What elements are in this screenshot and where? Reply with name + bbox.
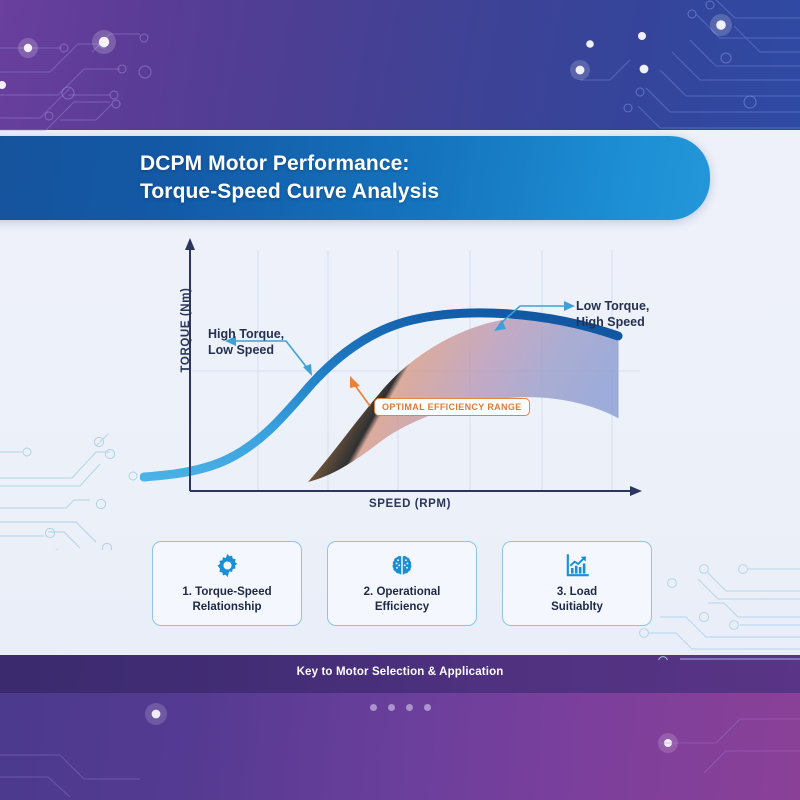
x-axis-label: SPEED (RPM): [290, 498, 530, 510]
annotation-arrow-optimal: [354, 384, 370, 406]
card-label: 3. Load Suitiablty: [551, 585, 603, 615]
page-title-line2: Torque-Speed Curve Analysis: [140, 178, 700, 206]
infographic-canvas: DCPM Motor Performance: Torque-Speed Cur…: [0, 0, 800, 800]
top-purple-background: [0, 0, 800, 136]
x-axis-arrowhead: [630, 486, 642, 496]
card-label: 1. Torque-Speed Relationship: [182, 585, 271, 615]
annotation-low-torque-high-speed: Low Torque, High Speed: [576, 298, 649, 330]
key-factor-cards: 1. Torque-Speed Relationship 2. Operatio…: [152, 541, 652, 626]
footer-tagline: Key to Motor Selection & Application: [0, 666, 800, 678]
brain-icon: [389, 551, 415, 581]
annotation-arrowhead-to-curve-1: [303, 364, 312, 376]
carousel-dots[interactable]: [0, 704, 800, 711]
carousel-dot[interactable]: [424, 704, 431, 711]
y-axis-label: TORQUE (Nm): [180, 270, 192, 390]
gear-icon: [214, 551, 241, 581]
optimal-efficiency-range-badge: OPTIMAL EFFICIENCY RANGE: [374, 398, 530, 416]
card-operational-efficiency[interactable]: 2. Operational Efficiency: [327, 541, 477, 626]
bar-chart-arrow-icon: [564, 551, 591, 581]
y-axis-arrowhead: [185, 238, 195, 250]
carousel-dot[interactable]: [406, 704, 413, 711]
annotation-high-torque-low-speed: High Torque, Low Speed: [208, 326, 284, 358]
torque-speed-chart: TORQUE (Nm) SPEED (RPM) High Torque, Low…: [140, 236, 660, 526]
chart-svg: [140, 236, 660, 526]
card-label: 2. Operational Efficiency: [364, 585, 441, 615]
page-title-line1: DCPM Motor Performance:: [140, 150, 700, 178]
card-load-suitability[interactable]: 3. Load Suitiablty: [502, 541, 652, 626]
annotation-arrowhead-right: [564, 301, 575, 311]
card-torque-speed-relationship[interactable]: 1. Torque-Speed Relationship: [152, 541, 302, 626]
page-title: DCPM Motor Performance: Torque-Speed Cur…: [140, 150, 700, 205]
carousel-dot[interactable]: [388, 704, 395, 711]
annotation-arrowhead-optimal: [350, 376, 360, 388]
carousel-dot[interactable]: [370, 704, 377, 711]
